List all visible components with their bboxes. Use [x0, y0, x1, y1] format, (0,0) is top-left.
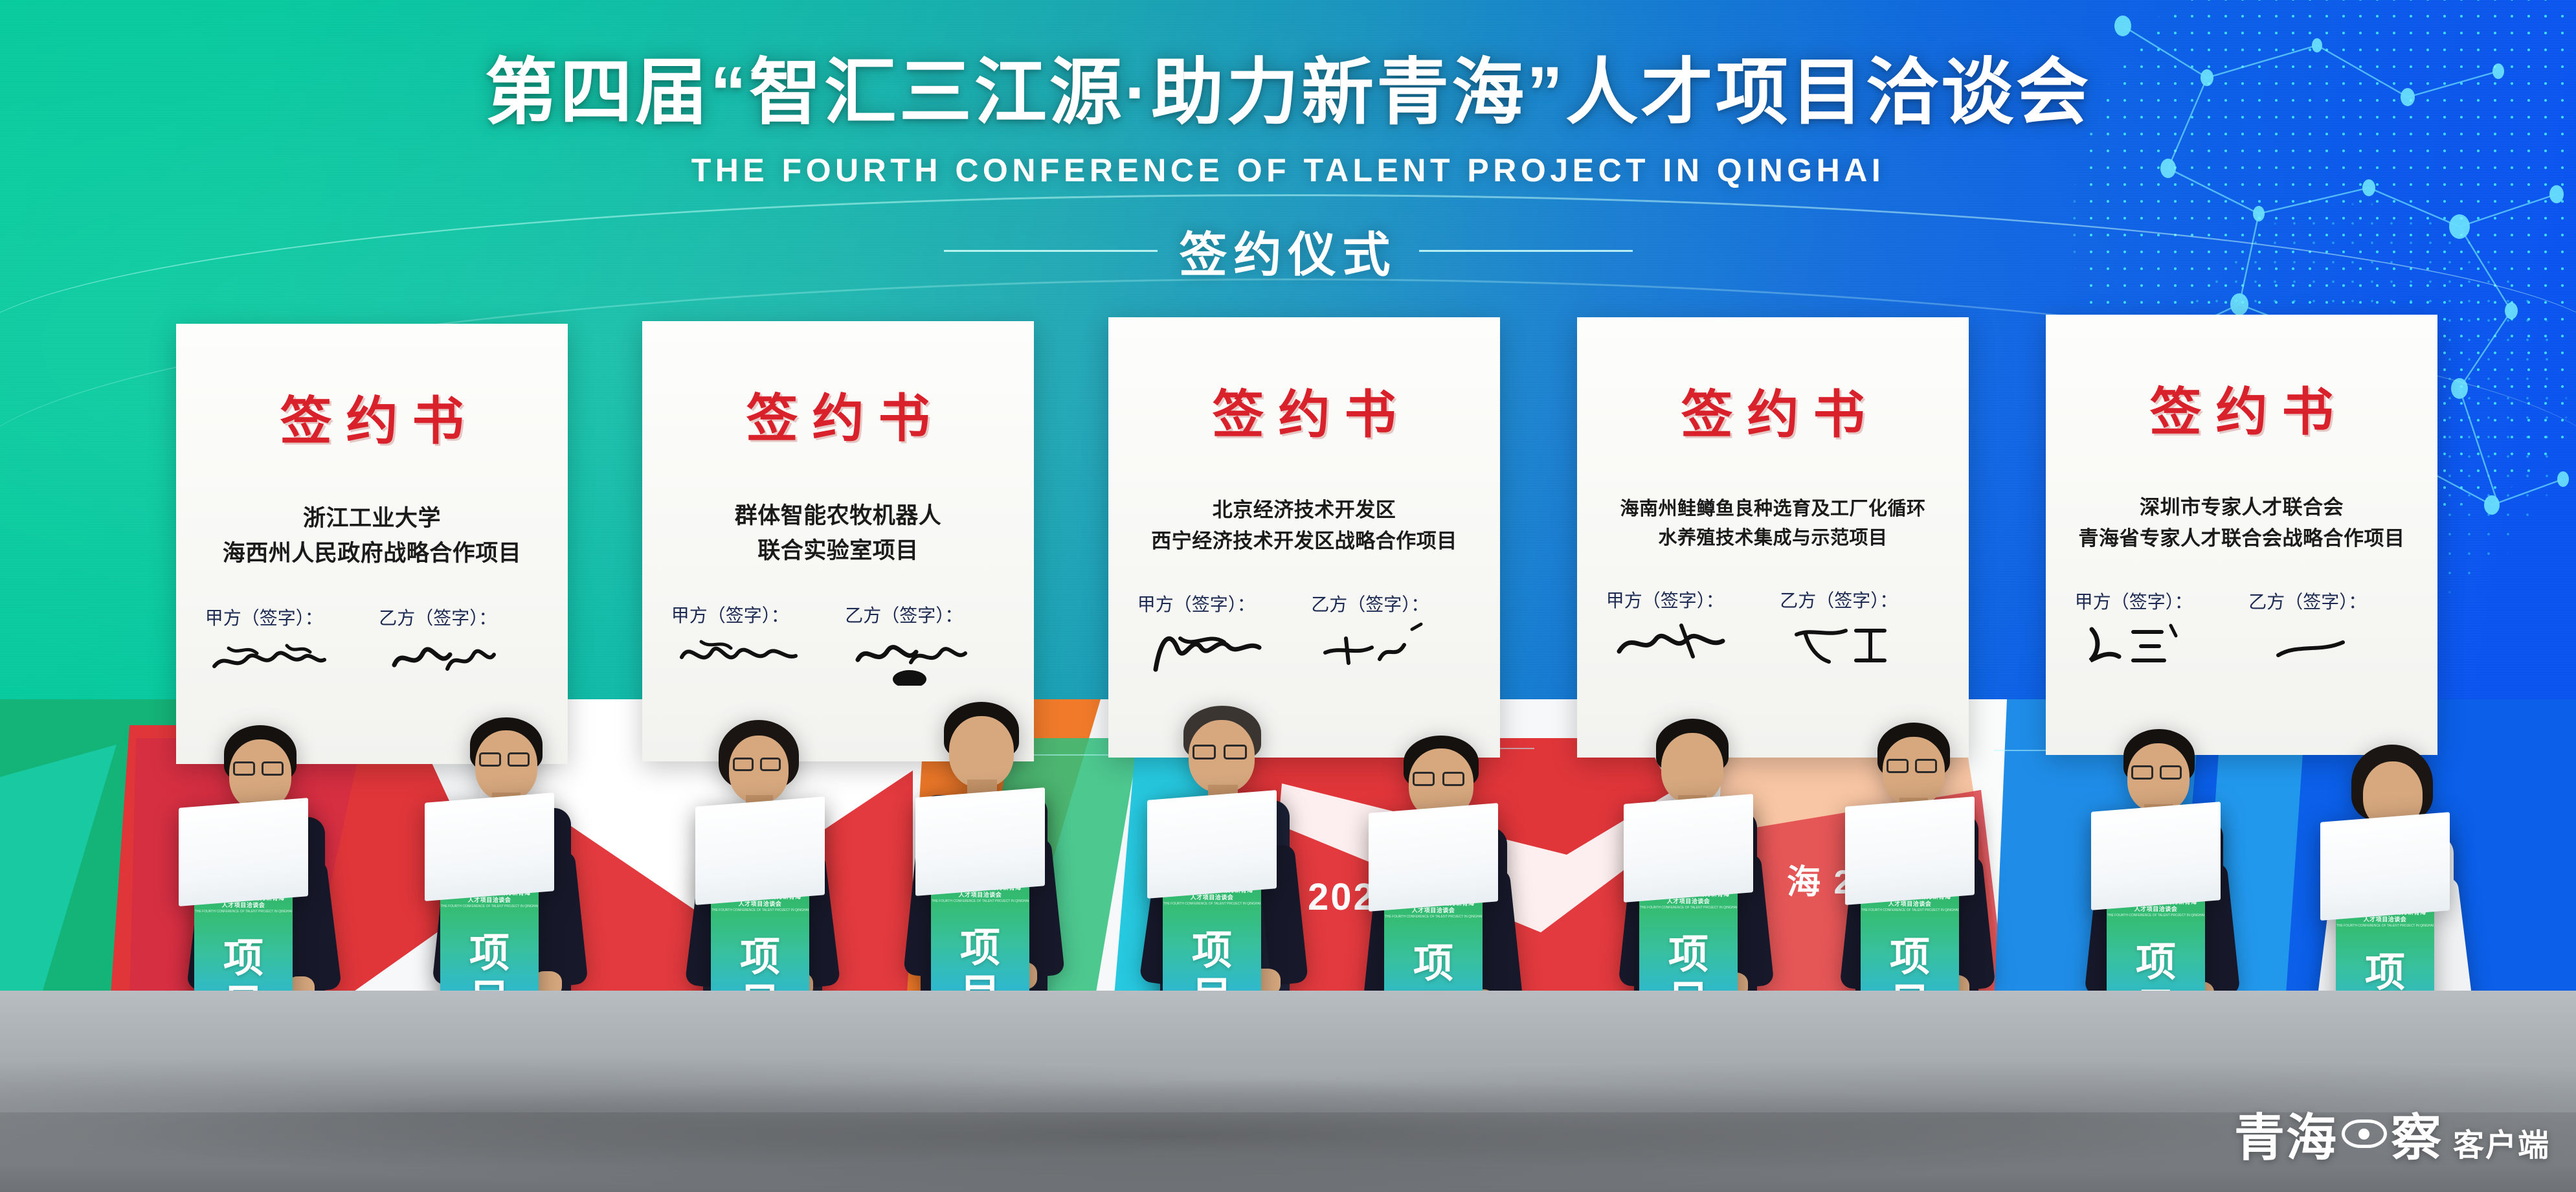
eye-icon: [2342, 1119, 2387, 1148]
ceremony-label: 签约仪式: [1180, 216, 1397, 286]
floor-front-edge: [0, 1112, 2576, 1192]
party-b-label: 乙方（签字）：: [1780, 590, 1898, 611]
board-heading: 签约书: [176, 379, 568, 455]
party-a-label: 甲方（签字）：: [671, 605, 789, 625]
board-project-line-1: 群体智能农牧机器人: [642, 500, 1034, 532]
signing-board-5: 签约书 深圳市专家人才联合会 青海省专家人才联合会战略合作项目 甲方（签字）： …: [2046, 315, 2437, 755]
watermark-brand-part2: 察: [2391, 1097, 2443, 1170]
signing-board-4: 签约书 海南州鲑鳟鱼良种选育及工厂化循环 水养殖技术集成与示范项目 甲方（签字）…: [1577, 317, 1969, 758]
signature-party-b: 乙方（签字）：: [1311, 590, 1471, 616]
signing-board-1: 签约书 浙江工业大学 海西州人民政府战略合作项目 甲方（签字）： 乙方（签字）：: [176, 324, 568, 764]
watermark-brand: 青海 察: [2234, 1097, 2443, 1170]
handwritten-signature-b: [2252, 610, 2401, 672]
party-b-label: 乙方（签字）：: [2248, 592, 2366, 612]
party-b-label: 乙方（签字）：: [845, 605, 963, 625]
handwritten-signature-b: [849, 624, 998, 686]
signing-board-3: 签约书 北京经济技术开发区 西宁经济技术开发区战略合作项目 甲方（签字）： 乙方…: [1108, 317, 1500, 758]
handwritten-signature-a: [2079, 610, 2228, 672]
media-watermark: 青海 察 客户端: [2234, 1097, 2550, 1170]
podium-header-en: THE FOURTH CONFERENCE OF TALENT PROJECT …: [194, 910, 293, 914]
podium-top-panel: [425, 793, 554, 901]
podium-header-en: THE FOURTH CONFERENCE OF TALENT PROJECT …: [2107, 914, 2205, 917]
signature-party-a: 甲方（签字）：: [1137, 590, 1297, 616]
board-signature-row: 甲方（签字）： 乙方（签字）：: [176, 604, 568, 630]
podium-top-panel: [2091, 802, 2221, 910]
podium-header-en: THE FOURTH CONFERENCE OF TALENT PROJECT …: [931, 899, 1029, 903]
handwritten-signature-a: [209, 626, 358, 688]
board-heading: 签约书: [642, 377, 1034, 452]
podium-header-en: THE FOURTH CONFERENCE OF TALENT PROJECT …: [1163, 902, 1261, 906]
signature-party-b: 乙方（签字）：: [379, 604, 539, 630]
podium-header-en: THE FOURTH CONFERENCE OF TALENT PROJECT …: [440, 905, 539, 908]
signature-party-a: 甲方（签字）：: [2075, 588, 2235, 614]
podium-top-panel: [2320, 812, 2450, 921]
podium-top-panel: [1845, 796, 1975, 905]
board-project-line-1: 海南州鲑鳟鱼良种选育及工厂化循环: [1577, 496, 1969, 523]
podium-top-panel: [915, 787, 1045, 896]
podium-header-en: THE FOURTH CONFERENCE OF TALENT PROJECT …: [1639, 906, 1738, 910]
board-project-line-1: 深圳市专家人才联合会: [2046, 493, 2437, 522]
signing-board-2: 签约书 群体智能农牧机器人 联合实验室项目 甲方（签字）： 乙方（签字）：: [642, 321, 1034, 761]
party-b-label: 乙方（签字）：: [1311, 594, 1429, 614]
board-heading: 签约书: [2046, 370, 2437, 445]
podium-header-en: THE FOURTH CONFERENCE OF TALENT PROJECT …: [2336, 924, 2434, 928]
podium-top-panel: [1624, 794, 1753, 903]
handwritten-signature-b: [383, 626, 532, 688]
podium-header-en: THE FOURTH CONFERENCE OF TALENT PROJECT …: [711, 908, 809, 912]
board-project-line-1: 北京经济技术开发区: [1108, 496, 1500, 524]
handwritten-signature-a: [1141, 613, 1290, 675]
podium-top-panel: [179, 798, 308, 906]
board-project-line-2: 海西州人民政府战略合作项目: [176, 537, 568, 570]
handwritten-signature-a: [1610, 609, 1759, 671]
board-project-line-1: 浙江工业大学: [176, 502, 568, 535]
board-signature-row: 甲方（签字）： 乙方（签字）：: [1577, 587, 1969, 613]
signature-party-a: 甲方（签字）：: [205, 604, 365, 630]
handwritten-signature-a: [675, 624, 824, 686]
podium-top-panel: [1369, 803, 1498, 912]
watermark-brand-part1: 青海: [2234, 1097, 2338, 1170]
podium-top-panel: [1147, 790, 1277, 899]
signature-party-a: 甲方（签字）：: [671, 602, 831, 627]
event-title-cn: 第四届“智汇三江源·助力新青海”人才项目洽谈会: [0, 51, 2576, 135]
podium-header-en: THE FOURTH CONFERENCE OF TALENT PROJECT …: [1384, 915, 1483, 919]
rule-right: [1419, 250, 1633, 252]
board-heading: 签约书: [1577, 373, 1969, 448]
signature-party-b: 乙方（签字）：: [845, 602, 1005, 627]
board-project-line-2: 联合实验室项目: [642, 535, 1034, 567]
party-a-label: 甲方（签字）：: [205, 608, 323, 628]
rule-left: [944, 250, 1158, 252]
event-title-block: 第四届“智汇三江源·助力新青海”人才项目洽谈会 THE FOURTH CONFE…: [0, 51, 2576, 286]
handwritten-signature-b: [1784, 609, 1932, 671]
handwritten-signature-b: [1315, 613, 1464, 675]
podium-top-panel: [695, 796, 825, 905]
board-heading: 签约书: [1108, 373, 1500, 448]
event-title-en: THE FOURTH CONFERENCE OF TALENT PROJECT …: [0, 152, 2576, 189]
signature-party-b: 乙方（签字）：: [1780, 587, 1940, 613]
podium-header-en: THE FOURTH CONFERENCE OF TALENT PROJECT …: [1861, 908, 1959, 912]
watermark-suffix: 客户端: [2453, 1119, 2550, 1170]
board-signature-row: 甲方（签字）： 乙方（签字）：: [2046, 588, 2437, 614]
photo-stage: 第四届“智汇三江源·助力新青海”人才项目洽谈会 THE FOURTH CONFE…: [0, 0, 2576, 1192]
party-a-label: 甲方（签字）：: [2075, 592, 2193, 612]
board-signature-row: 甲方（签字）： 乙方（签字）：: [642, 602, 1034, 627]
board-project-line-2: 青海省专家人才联合会战略合作项目: [2046, 524, 2437, 553]
signature-party-b: 乙方（签字）：: [2248, 588, 2408, 614]
board-signature-row: 甲方（签字）： 乙方（签字）：: [1108, 590, 1500, 616]
ceremony-label-row: 签约仪式: [0, 216, 2576, 286]
stage-floor: [0, 991, 2576, 1192]
board-project-line-2: 西宁经济技术开发区战略合作项目: [1108, 527, 1500, 556]
signature-party-a: 甲方（签字）：: [1606, 587, 1766, 613]
party-a-label: 甲方（签字）：: [1137, 594, 1255, 614]
board-project-line-2: 水养殖技术集成与示范项目: [1577, 525, 1969, 552]
party-b-label: 乙方（签字）：: [379, 608, 497, 628]
party-a-label: 甲方（签字）：: [1606, 590, 1724, 611]
